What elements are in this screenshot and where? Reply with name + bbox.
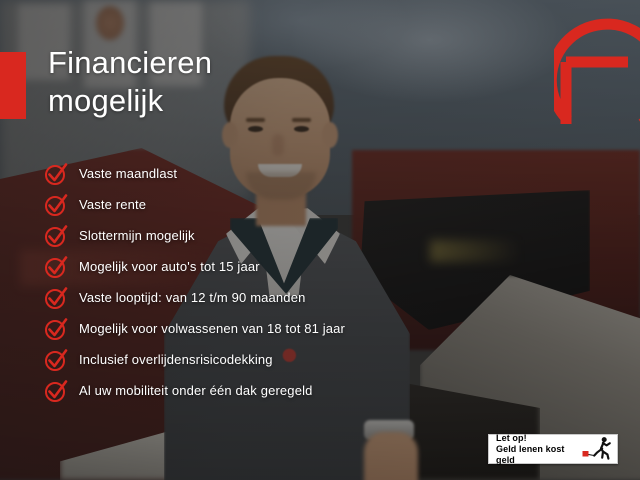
feature-list: Vaste maandlast Vaste rente Slottermijn … — [44, 158, 345, 406]
list-item: Vaste looptijd: van 12 t/m 90 maanden — [44, 282, 345, 313]
running-man-with-debt-block-icon — [582, 436, 612, 462]
check-circle-icon — [44, 317, 68, 341]
check-circle-icon — [44, 255, 68, 279]
check-circle-icon — [44, 286, 68, 310]
list-item-label: Vaste rente — [79, 197, 146, 213]
status-badge: Let op! Geld lenen kost geld — [488, 434, 618, 464]
list-item: Vaste rente — [44, 189, 345, 220]
list-item: Mogelijk voor volwassenen van 18 tot 81 … — [44, 313, 345, 344]
list-item-label: Al uw mobiliteit onder één dak geregeld — [79, 383, 313, 399]
list-item: Al uw mobiliteit onder één dak geregeld — [44, 375, 345, 406]
list-item-label: Vaste maandlast — [79, 166, 177, 182]
list-item-label: Slottermijn mogelijk — [79, 228, 195, 244]
financing-promo-banner: ● Financieren mogelijk Vaste maandlast — [0, 0, 640, 480]
list-item: Vaste maandlast — [44, 158, 345, 189]
list-item: Slottermijn mogelijk — [44, 220, 345, 251]
list-item-label: Inclusief overlijdensrisicodekking — [79, 352, 273, 368]
warning-badge-line1: Let op! — [496, 433, 582, 444]
list-item: Mogelijk voor auto's tot 15 jaar — [44, 251, 345, 282]
check-circle-icon — [44, 348, 68, 372]
page-title: Financieren mogelijk — [48, 44, 212, 120]
check-circle-icon — [44, 224, 68, 248]
list-item: Inclusief overlijdensrisicodekking — [44, 344, 345, 375]
warning-badge-line2: Geld lenen kost geld — [496, 444, 582, 466]
list-item-label: Vaste looptijd: van 12 t/m 90 maanden — [79, 290, 305, 306]
list-item-label: Mogelijk voor volwassenen van 18 tot 81 … — [79, 321, 345, 337]
check-circle-icon — [44, 162, 68, 186]
list-item-label: Mogelijk voor auto's tot 15 jaar — [79, 259, 260, 275]
check-circle-icon — [44, 193, 68, 217]
circular-arrow-logo — [554, 2, 640, 130]
headline-accent-block — [0, 52, 26, 119]
warning-badge-text: Let op! Geld lenen kost geld — [496, 433, 582, 466]
check-circle-icon — [44, 379, 68, 403]
